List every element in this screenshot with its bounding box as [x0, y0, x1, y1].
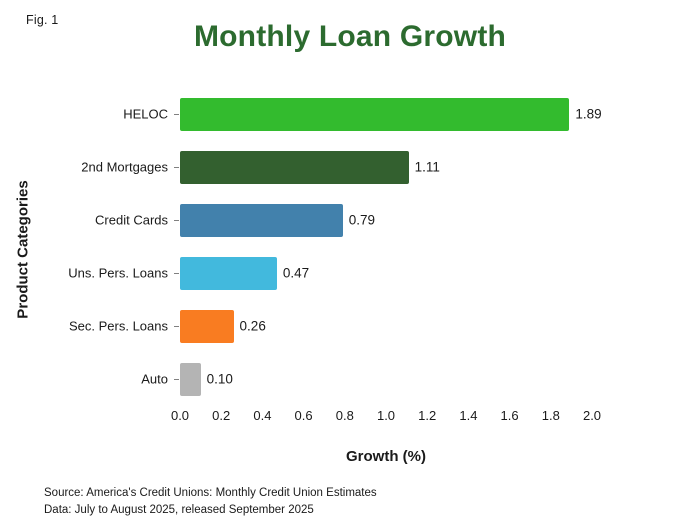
bar-row: Sec. Pers. Loans0.26 — [180, 310, 592, 343]
plot-area: HELOC1.892nd Mortgages1.11Credit Cards0.… — [180, 88, 592, 406]
category-label: 2nd Mortgages — [81, 160, 168, 175]
bar-value-label: 1.11 — [415, 160, 440, 175]
bar[interactable] — [180, 363, 201, 396]
x-tick-label: 0.8 — [336, 408, 354, 423]
x-tick-label: 1.0 — [377, 408, 395, 423]
bar-row: Uns. Pers. Loans0.47 — [180, 257, 592, 290]
x-tick-label: 1.8 — [542, 408, 560, 423]
y-axis-title: Product Categories — [15, 150, 32, 350]
category-label: HELOC — [123, 107, 168, 122]
y-tick-mark — [174, 114, 179, 115]
bar-value-label: 0.10 — [207, 372, 233, 387]
bar-value-label: 0.47 — [283, 266, 309, 281]
category-label: Credit Cards — [95, 213, 168, 228]
chart-figure: Fig. 1 Monthly Loan Growth Product Categ… — [0, 0, 700, 525]
bar-value-label: 0.79 — [349, 213, 375, 228]
x-axis-title: Growth (%) — [180, 448, 592, 465]
x-tick-label: 0.4 — [253, 408, 271, 423]
category-label: Auto — [141, 372, 168, 387]
footnote-data: Data: July to August 2025, released Sept… — [44, 502, 377, 519]
x-tick-label: 1.2 — [418, 408, 436, 423]
bar[interactable] — [180, 310, 234, 343]
bar-row: Auto0.10 — [180, 363, 592, 396]
y-tick-mark — [174, 220, 179, 221]
y-tick-mark — [174, 326, 179, 327]
y-tick-mark — [174, 379, 179, 380]
x-tick-label: 1.6 — [501, 408, 519, 423]
bar[interactable] — [180, 204, 343, 237]
bar-row: Credit Cards0.79 — [180, 204, 592, 237]
bar-value-label: 0.26 — [240, 319, 266, 334]
y-tick-mark — [174, 167, 179, 168]
x-tick-label: 0.0 — [171, 408, 189, 423]
x-tick-label: 2.0 — [583, 408, 601, 423]
x-tick-label: 1.4 — [459, 408, 477, 423]
bar[interactable] — [180, 257, 277, 290]
bar-row: HELOC1.89 — [180, 98, 592, 131]
bar-row: 2nd Mortgages1.11 — [180, 151, 592, 184]
footnotes: Source: America's Credit Unions: Monthly… — [44, 485, 377, 519]
bar[interactable] — [180, 98, 569, 131]
chart-title: Monthly Loan Growth — [0, 20, 700, 54]
category-label: Sec. Pers. Loans — [69, 319, 168, 334]
bar[interactable] — [180, 151, 409, 184]
bar-value-label: 1.89 — [575, 107, 601, 122]
footnote-source: Source: America's Credit Unions: Monthly… — [44, 485, 377, 502]
x-tick-label: 0.6 — [295, 408, 313, 423]
x-axis-ticks: 0.00.20.40.60.81.01.21.41.61.82.0 — [180, 408, 592, 432]
x-tick-label: 0.2 — [212, 408, 230, 423]
y-tick-mark — [174, 273, 179, 274]
category-label: Uns. Pers. Loans — [68, 266, 168, 281]
